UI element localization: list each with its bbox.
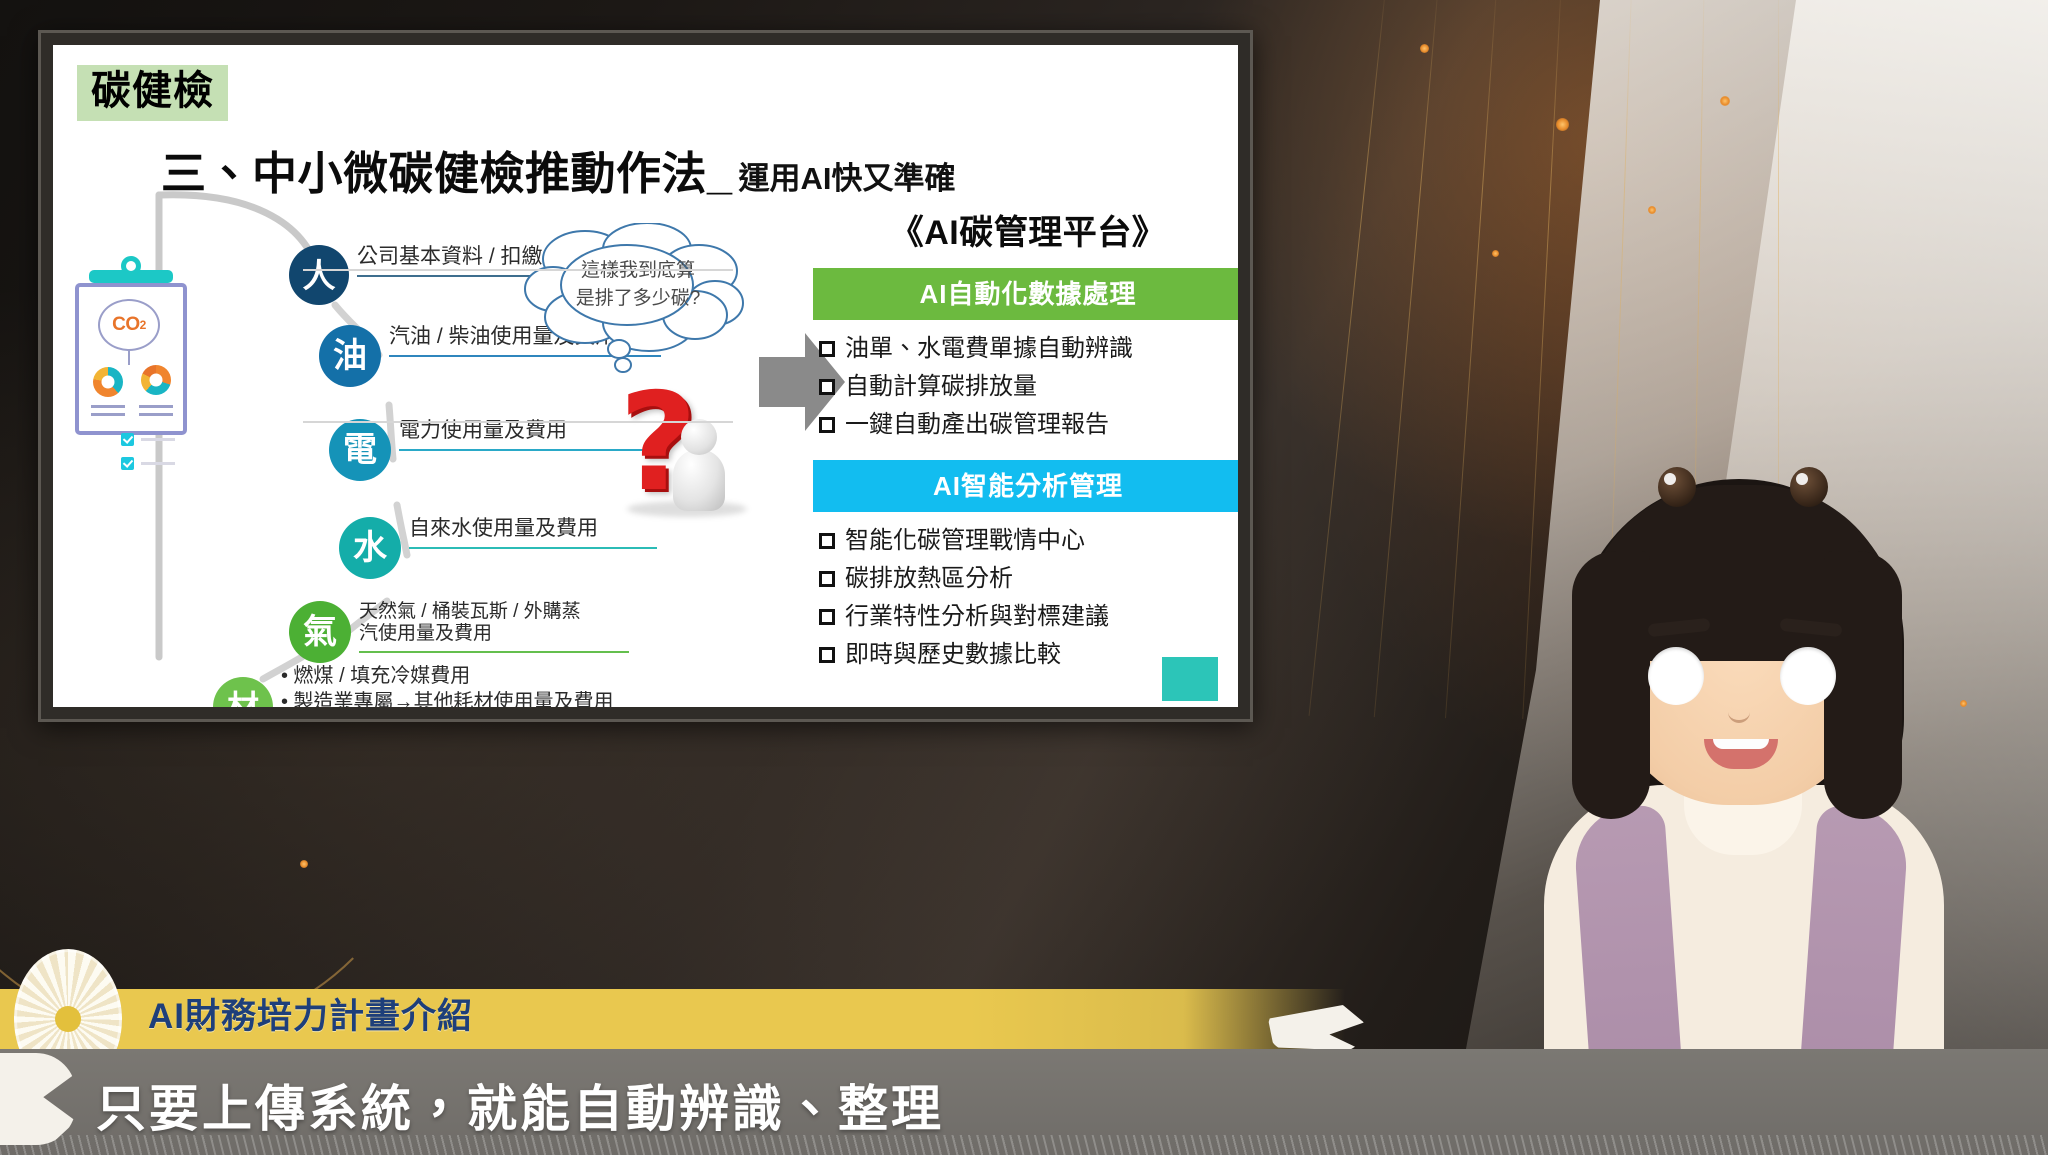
list-item-label: 油單、水電費單據自動辨識 [845,331,1133,367]
node-text-line: 汽使用量及費用 [359,623,629,645]
screen-root: 碳健檢 三、中小微碳健檢推動作法_ 運用AI快又準確 [0,0,2048,1155]
node-body: 天然氣 / 桶裝瓦斯 / 外購蒸 汽使用量及費用 [359,601,629,653]
node-text-line: 天然氣 / 桶裝瓦斯 / 外購蒸 [359,601,629,623]
checkbox-icon [121,457,134,470]
divider [139,413,173,416]
diagram-node-electricity: 電 電力使用量及費用 [329,419,649,481]
section-header-automation: AI自動化數據處理 [813,268,1238,320]
node-glyph-electricity: 電 [329,419,391,481]
list-item-label: 碳排放熱區分析 [845,561,1013,597]
donut-chart-icon [141,365,171,395]
panel-divider [303,421,733,423]
node-rule [359,651,629,653]
list-item-label: 智能化碳管理戰情中心 [845,523,1085,559]
spark-particle [1420,44,1429,53]
checkbox-outline-icon [819,341,835,357]
list-item: 油單、水電費單據自動辨識 [819,330,1238,368]
list-item: 行業特性分析與對標建議 [819,598,1238,636]
thinking-person-illustration: ? [613,375,753,515]
presenter-hair-side-right [1824,551,1902,819]
node-body: 自來水使用量及費用 [409,517,657,549]
checkbox-icon [121,433,134,446]
co2-connector [128,349,130,365]
node-rule [409,547,657,549]
teal-accent-block [1162,657,1218,701]
figure-head [681,419,717,455]
list-item-label: 自動計算碳排放量 [845,369,1037,405]
divider [91,413,125,416]
node-rule [399,449,649,451]
spark-particle [1492,250,1499,257]
page-subtitle: 運用AI快又準確 [739,153,956,198]
panel-divider [303,269,733,271]
diagram-node-material: 材 • 燃煤 / 填充冷媒費用 • 製造業專屬→其他耗材使用量及費用 (乙炔 /… [213,677,695,707]
node-glyph-water: 水 [339,517,401,579]
donut-chart-icon [93,367,123,397]
subtitle-text: 只要上傳系統，就能自動辨識、整理 [96,1069,944,1141]
section-header-analytics: AI智能分析管理 [813,460,1238,512]
checkbox-outline-icon [819,417,835,433]
checkbox-outline-icon [819,533,835,549]
list-item-label: 一鍵自動產出碳管理報告 [845,407,1109,443]
checkbox-outline-icon [819,571,835,587]
node-glyph-fuel: 油 [319,325,381,387]
checkbox-outline-icon [819,647,835,663]
list-item: 智能化碳管理戰情中心 [819,522,1238,560]
program-title: AI財務培力計畫介紹 [148,988,473,1039]
thought-bubble: 這樣我到底算 是排了多少碳? [523,223,748,373]
clipboard-illustration: CO2 [75,283,187,435]
checkbox-outline-icon [819,379,835,395]
node-body: 電力使用量及費用 [399,419,649,451]
node-glyph-material: 材 [213,677,273,707]
list-rule [141,438,175,441]
diagram-node-gas: 氣 天然氣 / 桶裝瓦斯 / 外購蒸 汽使用量及費用 [289,601,629,663]
divider [139,405,173,408]
presenter-iris-right [1790,467,1828,507]
presentation-slide: 碳健檢 三、中小微碳健檢推動作法_ 運用AI快又準確 [53,45,1238,707]
spark-particle [1556,118,1569,131]
node-glyph-gas: 氣 [289,601,351,663]
section-list-analytics: 智能化碳管理戰情中心 碳排放熱區分析 行業特性分析與對標建議 即時與歷史數據比較 [819,522,1238,674]
presenter-eye-glint-right [1796,473,1808,485]
presenter-iris-left [1658,467,1696,507]
platform-title: 《AI碳管理平台》 [813,205,1238,254]
divider [91,405,125,408]
node-body: • 燃煤 / 填充冷媒費用 • 製造業專屬→其他耗材使用量及費用 (乙炔 / 焊… [281,663,695,707]
diagram-node-water: 水 自來水使用量及費用 [339,517,657,579]
node-bullet-line: • 製造業專屬→其他耗材使用量及費用 [281,689,695,707]
node-bullet-line: • 燃煤 / 填充冷媒費用 [281,663,695,689]
figure-body [673,449,725,511]
list-item: 自動計算碳排放量 [819,368,1238,406]
thought-bubble-text: 這樣我到底算 是排了多少碳? [553,257,723,312]
co2-label: CO2 [98,299,160,351]
list-item-label: 即時與歷史數據比較 [845,637,1061,673]
checkbox-outline-icon [819,609,835,625]
node-glyph-person: 人 [289,245,349,305]
presentation-slide-frame: 碳健檢 三、中小微碳健檢推動作法_ 運用AI快又準確 [38,30,1253,722]
clipboard-ring [121,256,141,276]
presenter-eye-right [1780,647,1836,705]
ai-platform-panel: 《AI碳管理平台》 AI自動化數據處理 油單、水電費單據自動辨識 自動計算碳排放… [813,205,1238,690]
spark-particle [300,860,308,868]
section-tag-chip: 碳健檢 [77,65,228,121]
section-list-automation: 油單、水電費單據自動辨識 自動計算碳排放量 一鍵自動產出碳管理報告 [819,330,1238,444]
list-item: 碳排放熱區分析 [819,560,1238,598]
list-rule [141,462,175,465]
presenter-eye-left [1648,647,1704,705]
list-item-label: 行業特性分析與對標建議 [845,599,1109,635]
presenter-hair-side-left [1572,551,1650,819]
list-item: 一鍵自動產出碳管理報告 [819,406,1238,444]
presenter-eye-glint-left [1664,473,1676,485]
